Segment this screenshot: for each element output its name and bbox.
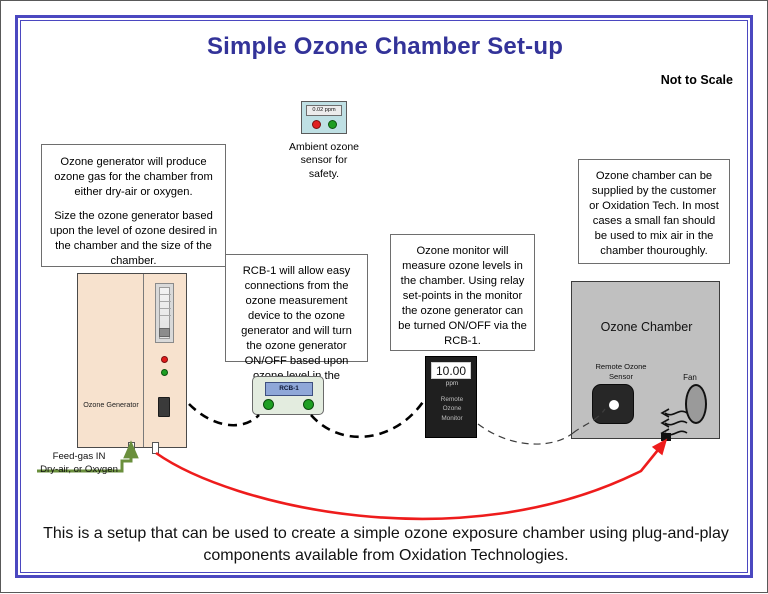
rcb-left-green-led-icon (263, 399, 274, 410)
monitor-reading-display: 10.00 (431, 362, 471, 379)
chamber-sensor-caption-line-2: Sensor (609, 372, 633, 381)
caption-line-1: This is a setup that can be used to crea… (43, 525, 585, 542)
diagram-canvas: Simple Ozone Chamber Set-up Not to Scale… (0, 0, 768, 593)
chamber-fan-icon (685, 384, 707, 424)
generator-flowmeter-icon (155, 283, 174, 343)
callout-rcb-controller: RCB-1 will allow easy connections from t… (225, 254, 368, 362)
scale-note: Not to Scale (661, 73, 733, 87)
remote-ozone-monitor-device: 10.00 ppm Remote Ozone Monitor (425, 356, 477, 438)
monitor-device-label: Remote Ozone Monitor (426, 395, 478, 423)
generator-device-label: Ozone Generator (80, 400, 142, 409)
diagram-caption: This is a setup that can be used to crea… (41, 523, 731, 567)
page-title: Simple Ozone Chamber Set-up (1, 33, 768, 61)
callout-ozone-generator: Ozone generator will produce ozone gas f… (41, 144, 226, 267)
ozone-chamber-title: Ozone Chamber (572, 320, 721, 334)
callout-generator-paragraph-2: Size the ozone generator based upon the … (49, 209, 218, 269)
cable-rcb-to-monitor (311, 399, 425, 437)
ambient-sensor-green-led-icon (328, 120, 337, 129)
ambient-sensor-caption-line-1: Ambient ozone (289, 141, 359, 153)
callout-ozone-monitor: Ozone monitor will measure ozone levels … (390, 234, 535, 351)
cable-monitor-to-chamber-sensor (478, 424, 573, 444)
monitor-reading-unit: ppm (426, 380, 478, 387)
chamber-sensor-caption-line-1: Remote Ozone (595, 362, 646, 371)
flowmeter-float (159, 328, 170, 337)
ambient-sensor-red-led-icon (312, 120, 321, 129)
ambient-sensor-caption-line-2: sensor for (301, 154, 348, 166)
ambient-sensor-caption: Ambient ozone sensor for safety. (276, 141, 372, 181)
callout-monitor-paragraph-1: Ozone monitor will measure ozone levels … (398, 244, 527, 349)
remote-sensor-aperture-icon (609, 400, 619, 410)
monitor-label-line-1: Remote (441, 396, 463, 403)
chamber-sensor-caption: Remote Ozone Sensor (580, 362, 662, 382)
feed-gas-label-line-1: Feed-gas IN (53, 451, 106, 462)
feed-gas-label-line-2: Dry-air, or Oxygen (40, 464, 118, 475)
callout-generator-paragraph-1: Ozone generator will produce ozone gas f… (49, 155, 218, 200)
generator-panel-divider (143, 274, 144, 447)
feed-gas-label: Feed-gas IN Dry-air, or Oxygen (23, 451, 135, 477)
cable-generator-to-rcb (189, 404, 259, 425)
generator-power-switch[interactable] (158, 397, 170, 417)
ambient-sensor-display: 0.02 ppm (306, 105, 342, 116)
chamber-ozone-inlet-port (661, 433, 671, 441)
generator-green-led-icon (161, 369, 168, 376)
rcb-1-display: RCB-1 (265, 382, 313, 396)
monitor-label-line-2: Ozone (443, 405, 462, 412)
ambient-sensor-caption-line-3: safety. (309, 168, 339, 180)
generator-outlet-port (152, 442, 159, 454)
rcb-right-green-led-icon (303, 399, 314, 410)
rcb-1-controller: RCB-1 (252, 376, 324, 415)
callout-ozone-chamber: Ozone chamber can be supplied by the cus… (578, 159, 730, 264)
callout-chamber-paragraph-1: Ozone chamber can be supplied by the cus… (586, 169, 722, 259)
remote-ozone-sensor-device (592, 384, 634, 424)
ozone-gas-line (156, 445, 662, 519)
generator-red-led-icon (161, 356, 168, 363)
chamber-fan-label: Fan (670, 373, 710, 382)
monitor-label-line-3: Monitor (441, 415, 462, 422)
ambient-ozone-sensor: 0.02 ppm (301, 101, 347, 134)
ozone-generator-device: Ozone Generator (77, 273, 187, 448)
ozone-chamber-enclosure: Ozone Chamber Remote Ozone Sensor Fan (571, 281, 720, 439)
